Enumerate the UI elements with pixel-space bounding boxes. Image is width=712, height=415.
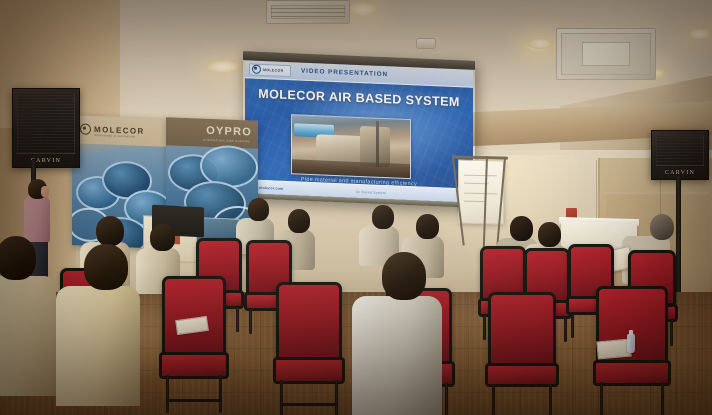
conference-room-photo: MOLECOR VIDEO PRESENTATION MOLECOR AIR B… xyxy=(0,0,712,415)
downlight-icon xyxy=(206,60,240,73)
presenter-torso xyxy=(24,196,50,242)
ac-cassette-icon xyxy=(266,0,350,24)
presenter-face xyxy=(41,186,49,197)
chair xyxy=(488,292,556,415)
projection-screen: MOLECOR VIDEO PRESENTATION MOLECOR AIR B… xyxy=(243,51,475,208)
chair xyxy=(276,282,342,414)
slide-photo xyxy=(291,114,411,179)
slide-photo-post xyxy=(376,121,379,167)
slide-logo-text: MOLECOR xyxy=(263,67,283,72)
smoke-detector-icon xyxy=(416,38,436,49)
molecor-logo-icon xyxy=(80,123,91,134)
water-bottle xyxy=(627,334,635,353)
downlight-icon xyxy=(348,2,378,16)
slide-photo-machine-secondary xyxy=(360,126,390,167)
speaker-grille xyxy=(656,135,704,166)
downlight-icon xyxy=(688,28,712,40)
molecor-logo-icon xyxy=(252,65,261,74)
banner-brand-text: OYPRO xyxy=(206,125,252,139)
presentation-slide: MOLECOR VIDEO PRESENTATION MOLECOR AIR B… xyxy=(245,60,473,203)
chair xyxy=(162,276,226,410)
slide-brand-logo: MOLECOR xyxy=(249,63,291,77)
flipchart-paper xyxy=(458,159,504,224)
pa-speaker-right: CARVIN xyxy=(651,130,709,180)
speaker-stand-pole xyxy=(676,176,681,296)
downlight-icon xyxy=(527,38,553,49)
speaker-grille xyxy=(17,93,75,154)
ac-cassette-icon xyxy=(556,28,656,80)
slide-footer-center: Air Based System xyxy=(356,189,386,194)
speaker-brand-label: CARVIN xyxy=(13,158,79,164)
slide-header-label: VIDEO PRESENTATION xyxy=(301,68,388,79)
screen-surface: MOLECOR VIDEO PRESENTATION MOLECOR AIR B… xyxy=(245,60,473,203)
pa-speaker-left: CARVIN xyxy=(12,88,80,168)
